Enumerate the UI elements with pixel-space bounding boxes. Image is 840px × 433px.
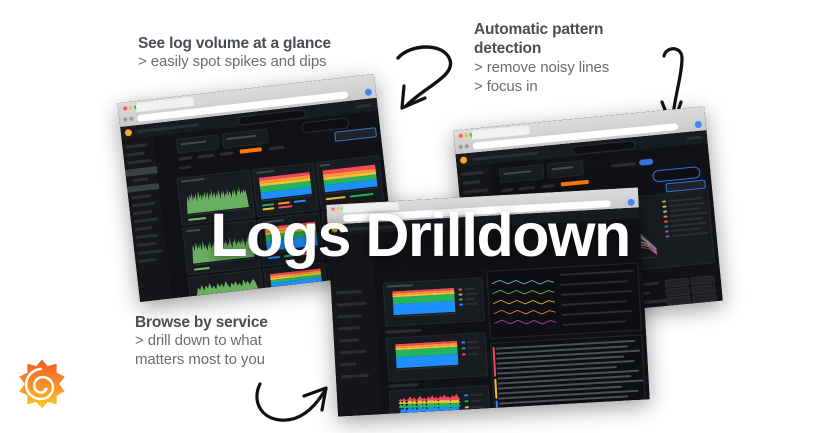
callout-browse-service: Browse by service > drill down to what m… <box>135 313 268 370</box>
callout-heading: See log volume at a glance <box>138 34 331 53</box>
legend-label[interactable] <box>470 400 480 403</box>
topnav-action-left[interactable] <box>355 104 371 109</box>
legend-swatch <box>464 400 468 402</box>
callout-heading: Browse by service <box>135 313 268 332</box>
panel-logs-table[interactable] <box>490 334 646 416</box>
tab-fields[interactable] <box>220 151 234 156</box>
tab-patterns-active[interactable] <box>240 147 262 153</box>
sidebar-item[interactable] <box>463 188 488 193</box>
legend-label[interactable] <box>464 293 477 296</box>
summary-row[interactable] <box>560 270 634 276</box>
stacked-area-chart <box>392 288 455 315</box>
legend-label[interactable] <box>470 393 482 396</box>
noisy-stacked-area-chart <box>398 394 461 417</box>
sidebar-item-active[interactable] <box>125 166 158 177</box>
new-tab-button-left[interactable] <box>196 96 206 105</box>
sidebar-item[interactable] <box>461 171 483 176</box>
tab-fields[interactable] <box>541 184 555 188</box>
tab-patterns-active[interactable] <box>561 180 589 187</box>
legend-swatch <box>662 200 666 202</box>
legend-label[interactable] <box>467 346 480 349</box>
legend-swatch <box>458 293 462 295</box>
curved-arrow-up-right-icon <box>248 376 334 428</box>
legend-label[interactable] <box>467 341 478 344</box>
log-line[interactable] <box>499 406 617 414</box>
live-toggle[interactable] <box>639 159 654 166</box>
new-tab-button-right[interactable] <box>532 125 542 134</box>
sidebar-item[interactable] <box>132 177 148 182</box>
legend-label[interactable] <box>471 405 484 408</box>
sidebar-item[interactable] <box>338 326 360 330</box>
summary-row[interactable] <box>562 310 632 316</box>
close-dot-icon[interactable] <box>459 134 463 138</box>
live-toggle-label[interactable] <box>611 162 635 167</box>
legend-swatch <box>194 267 210 271</box>
sidebar-item[interactable] <box>339 338 359 342</box>
tab-logs[interactable] <box>178 156 192 161</box>
curved-arrow-down-left-icon <box>392 36 464 120</box>
legend-label[interactable] <box>464 288 475 291</box>
back-button-left[interactable] <box>123 117 127 121</box>
tab-labels[interactable] <box>519 186 535 191</box>
filter-field-select[interactable] <box>547 160 584 178</box>
legend-label[interactable] <box>465 303 477 306</box>
section-label-detected <box>385 329 421 334</box>
forward-button-left[interactable] <box>129 117 133 121</box>
close-dot-icon[interactable] <box>123 106 127 110</box>
open-in-explore-button[interactable] <box>334 127 377 142</box>
stacked-area-chart <box>395 341 458 368</box>
callout-line: > easily spot spikes and dips <box>138 53 331 72</box>
legend-swatch <box>465 406 469 408</box>
section-label-fields <box>388 383 418 388</box>
sparkline-green <box>195 275 258 297</box>
legend-swatch <box>464 394 468 396</box>
sidebar-item[interactable] <box>131 194 151 199</box>
callout-line: > drill down to what <box>135 332 268 351</box>
sidebar-item[interactable] <box>125 143 147 148</box>
sidebar-item[interactable] <box>462 180 480 185</box>
callout-line: > focus in <box>474 78 649 97</box>
callout-line: > remove noisy lines <box>474 59 649 78</box>
filter-field-select[interactable] <box>222 128 269 148</box>
legend-swatch <box>459 303 463 305</box>
sidebar-item[interactable] <box>340 350 367 355</box>
grafana-logo-small-icon[interactable] <box>460 156 468 164</box>
panel-logs-summary[interactable] <box>486 263 642 339</box>
panel-service-volume-3[interactable] <box>389 385 491 416</box>
stacked-area-chart <box>270 268 322 288</box>
callout-pattern-detection: Automatic pattern detection > remove noi… <box>474 20 649 96</box>
filter-service-select[interactable] <box>499 164 544 183</box>
tab-labels[interactable] <box>198 154 214 159</box>
forward-button-right[interactable] <box>465 144 469 148</box>
exclude-button[interactable] <box>692 293 717 303</box>
filter-service-select[interactable] <box>176 134 219 154</box>
topnav-action-right[interactable] <box>687 136 701 140</box>
summary-row[interactable] <box>561 300 627 306</box>
sidebar-item[interactable] <box>340 362 356 366</box>
legend-swatch <box>461 341 465 343</box>
page-title: Logs Drilldown <box>0 205 840 266</box>
breadcrumb-sort[interactable] <box>179 165 191 169</box>
sidebar-item[interactable] <box>337 302 367 307</box>
summary-row[interactable] <box>560 280 628 286</box>
sidebar-item[interactable] <box>341 374 369 379</box>
tab-detected[interactable] <box>268 146 284 151</box>
sidebar-item-logs[interactable] <box>127 183 159 193</box>
legend-label[interactable] <box>471 411 482 414</box>
panel-service-volume-1[interactable] <box>383 277 485 327</box>
legend-swatch <box>326 196 346 200</box>
legend-swatch <box>349 193 373 198</box>
sidebar-item[interactable] <box>126 152 144 157</box>
sidebar-item[interactable] <box>338 314 362 318</box>
legend-swatch <box>462 353 466 355</box>
legend-label[interactable] <box>465 298 475 301</box>
panel-service-volume-2[interactable] <box>386 332 488 382</box>
legend-label[interactable] <box>468 353 478 356</box>
profile-avatar-right[interactable] <box>694 121 702 129</box>
legend-swatch <box>458 288 462 290</box>
callout-log-volume: See log volume at a glance > easily spot… <box>138 34 331 72</box>
minimize-dot-icon[interactable] <box>128 106 132 110</box>
legend-swatch <box>459 298 463 300</box>
promo-canvas: Logs Drilldown See log volume at a glanc… <box>0 0 840 433</box>
sidebar-item[interactable] <box>336 290 362 294</box>
callout-line: matters most to you <box>135 351 268 370</box>
mini-sparkline-group <box>492 272 557 333</box>
log-level-bar <box>496 401 498 417</box>
minimize-dot-icon[interactable] <box>464 133 468 137</box>
sidebar-item[interactable] <box>127 159 151 165</box>
log-level-bar <box>493 347 496 377</box>
back-button-right[interactable] <box>459 145 463 149</box>
summary-row[interactable] <box>561 290 633 296</box>
legend-swatch <box>462 347 466 349</box>
grafana-logo-icon <box>16 358 68 410</box>
profile-avatar-left[interactable] <box>365 88 373 96</box>
grafana-logo-small-icon[interactable] <box>125 129 133 137</box>
log-level-bar <box>494 379 497 399</box>
tab-logs[interactable] <box>501 188 513 192</box>
summary-row[interactable] <box>562 320 626 326</box>
callout-heading: Automatic pattern detection <box>474 20 649 59</box>
legend-swatch <box>465 412 469 414</box>
include-button[interactable] <box>666 296 691 306</box>
